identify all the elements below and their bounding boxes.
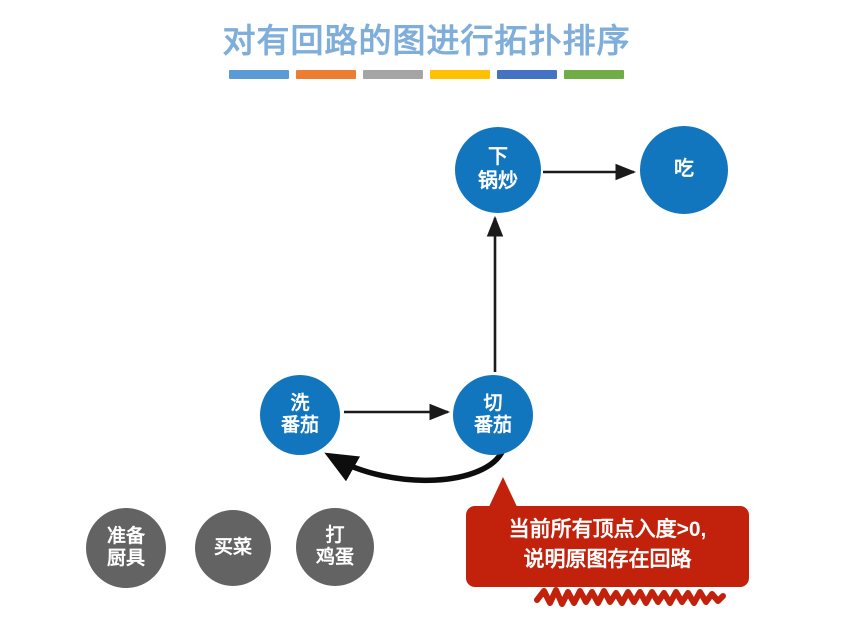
node-label-line: 下: [488, 146, 508, 170]
node-label-line: 厨具: [107, 548, 145, 570]
node-label-line: 番茄: [474, 415, 512, 437]
node-label-line: 洗: [290, 393, 309, 415]
accent-bar-blue-dark: [497, 70, 557, 79]
edge-qiefanqie-to-xifanqie-curved: [332, 450, 503, 480]
graph-node-chi[interactable]: 吃: [640, 126, 728, 214]
graph-node-xiaguochao[interactable]: 下 锅炒: [455, 127, 541, 213]
graph-node-maicai[interactable]: 买菜: [195, 510, 271, 586]
accent-bar-blue-light: [229, 70, 289, 79]
node-label-line: 番茄: [281, 415, 319, 437]
accent-bar-group: [0, 70, 853, 79]
graph-node-qiefanqie[interactable]: 切 番茄: [453, 375, 533, 455]
node-label-line: 准备: [107, 526, 145, 548]
accent-bar-orange: [296, 70, 356, 79]
graph-node-zhunbei-chuju[interactable]: 准备 厨具: [86, 508, 166, 588]
callout-box: 当前所有顶点入度>0, 说明原图存在回路: [466, 506, 749, 587]
callout-text-line: 说明原图存在回路: [472, 545, 743, 575]
page-title: 对有回路的图进行拓扑排序: [0, 14, 853, 62]
graph-node-xifanqie[interactable]: 洗 番茄: [260, 375, 340, 455]
graph-node-dajidan[interactable]: 打 鸡蛋: [296, 508, 374, 586]
node-label-line: 吃: [674, 158, 694, 182]
slide-canvas: 对有回路的图进行拓扑排序: [0, 0, 853, 631]
node-label-line: 锅炒: [478, 170, 518, 194]
accent-bar-gray: [363, 70, 423, 79]
node-label-line: 打: [325, 525, 344, 547]
accent-bar-green: [564, 70, 624, 79]
accent-bar-yellow: [430, 70, 490, 79]
callout-text-line: 当前所有顶点入度>0,: [472, 515, 743, 545]
node-label-line: 鸡蛋: [316, 547, 354, 569]
squiggle-underline-icon: [534, 586, 726, 612]
node-label-line: 切: [483, 393, 502, 415]
node-label-line: 买菜: [214, 537, 252, 559]
